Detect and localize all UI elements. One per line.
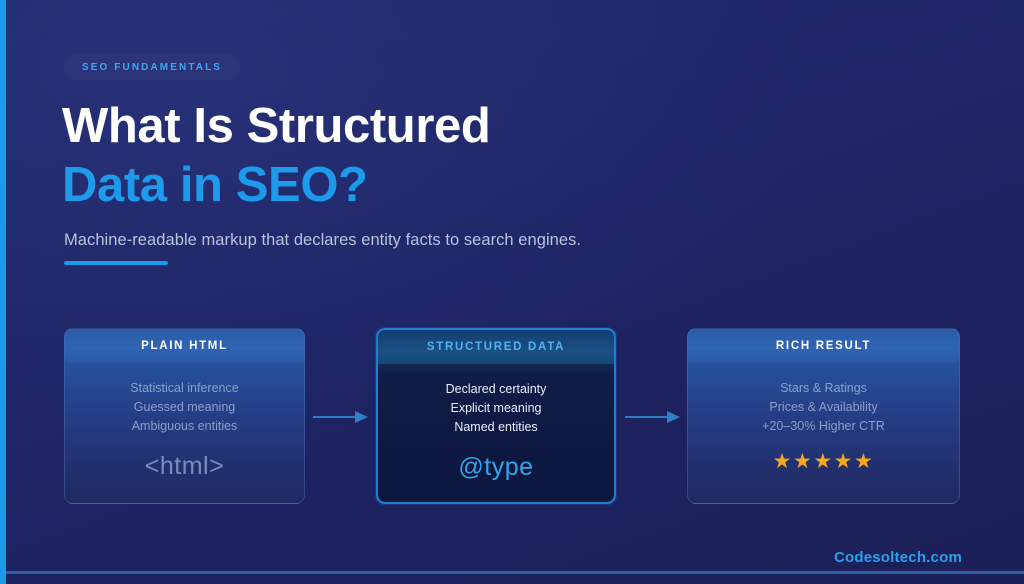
card-body: Declared certainty Explicit meaning Name… <box>378 364 614 482</box>
card-body: Stars & Ratings Prices & Availability +2… <box>688 363 959 474</box>
card-bullet: Prices & Availability <box>769 398 877 417</box>
page-subtitle: Machine-readable markup that declares en… <box>64 231 581 250</box>
card-bullet: Ambiguous entities <box>132 417 238 436</box>
left-accent-bar <box>0 0 6 584</box>
arrow-right-icon <box>313 411 369 423</box>
eyebrow-badge: SEO FUNDAMENTALS <box>64 54 240 80</box>
star-rating-icon: ★★★★★ <box>773 449 875 474</box>
arrow-right-icon <box>625 411 681 423</box>
card-bullet: Explicit meaning <box>450 399 541 418</box>
flow-diagram: PLAIN HTML Statistical inference Guessed… <box>0 328 1024 506</box>
card-heading: PLAIN HTML <box>65 329 304 363</box>
arrow-head <box>667 411 680 423</box>
card-bullet: Statistical inference <box>130 379 238 398</box>
page-title: What Is Structured Data in SEO? <box>62 97 490 215</box>
flow-card-plain-html: PLAIN HTML Statistical inference Guessed… <box>64 328 305 504</box>
flow-card-rich-result: RICH RESULT Stars & Ratings Prices & Ava… <box>687 328 960 504</box>
card-heading: RICH RESULT <box>688 329 959 363</box>
title-line-2: Data in SEO? <box>62 156 490 215</box>
slide-canvas: SEO FUNDAMENTALS What Is Structured Data… <box>0 0 1024 584</box>
footer-divider <box>0 571 1024 574</box>
card-code-glyph: <html> <box>145 452 224 481</box>
card-heading: STRUCTURED DATA <box>378 330 614 364</box>
card-bullet: Stars & Ratings <box>780 379 867 398</box>
flow-card-structured-data: STRUCTURED DATA Declared certainty Expli… <box>376 328 616 504</box>
card-bullet: Named entities <box>454 418 537 437</box>
title-underline-accent <box>64 261 168 265</box>
card-code-glyph: @type <box>458 453 533 482</box>
title-line-1: What Is Structured <box>62 99 490 153</box>
card-body: Statistical inference Guessed meaning Am… <box>65 363 304 481</box>
card-bullet: Guessed meaning <box>134 398 235 417</box>
card-bullet: +20–30% Higher CTR <box>762 417 885 436</box>
footer-brand-link[interactable]: Codesoltech.com <box>834 549 962 566</box>
arrow-head <box>355 411 368 423</box>
card-bullet: Declared certainty <box>446 380 547 399</box>
arrow-shaft <box>313 416 357 418</box>
arrow-shaft <box>625 416 669 418</box>
